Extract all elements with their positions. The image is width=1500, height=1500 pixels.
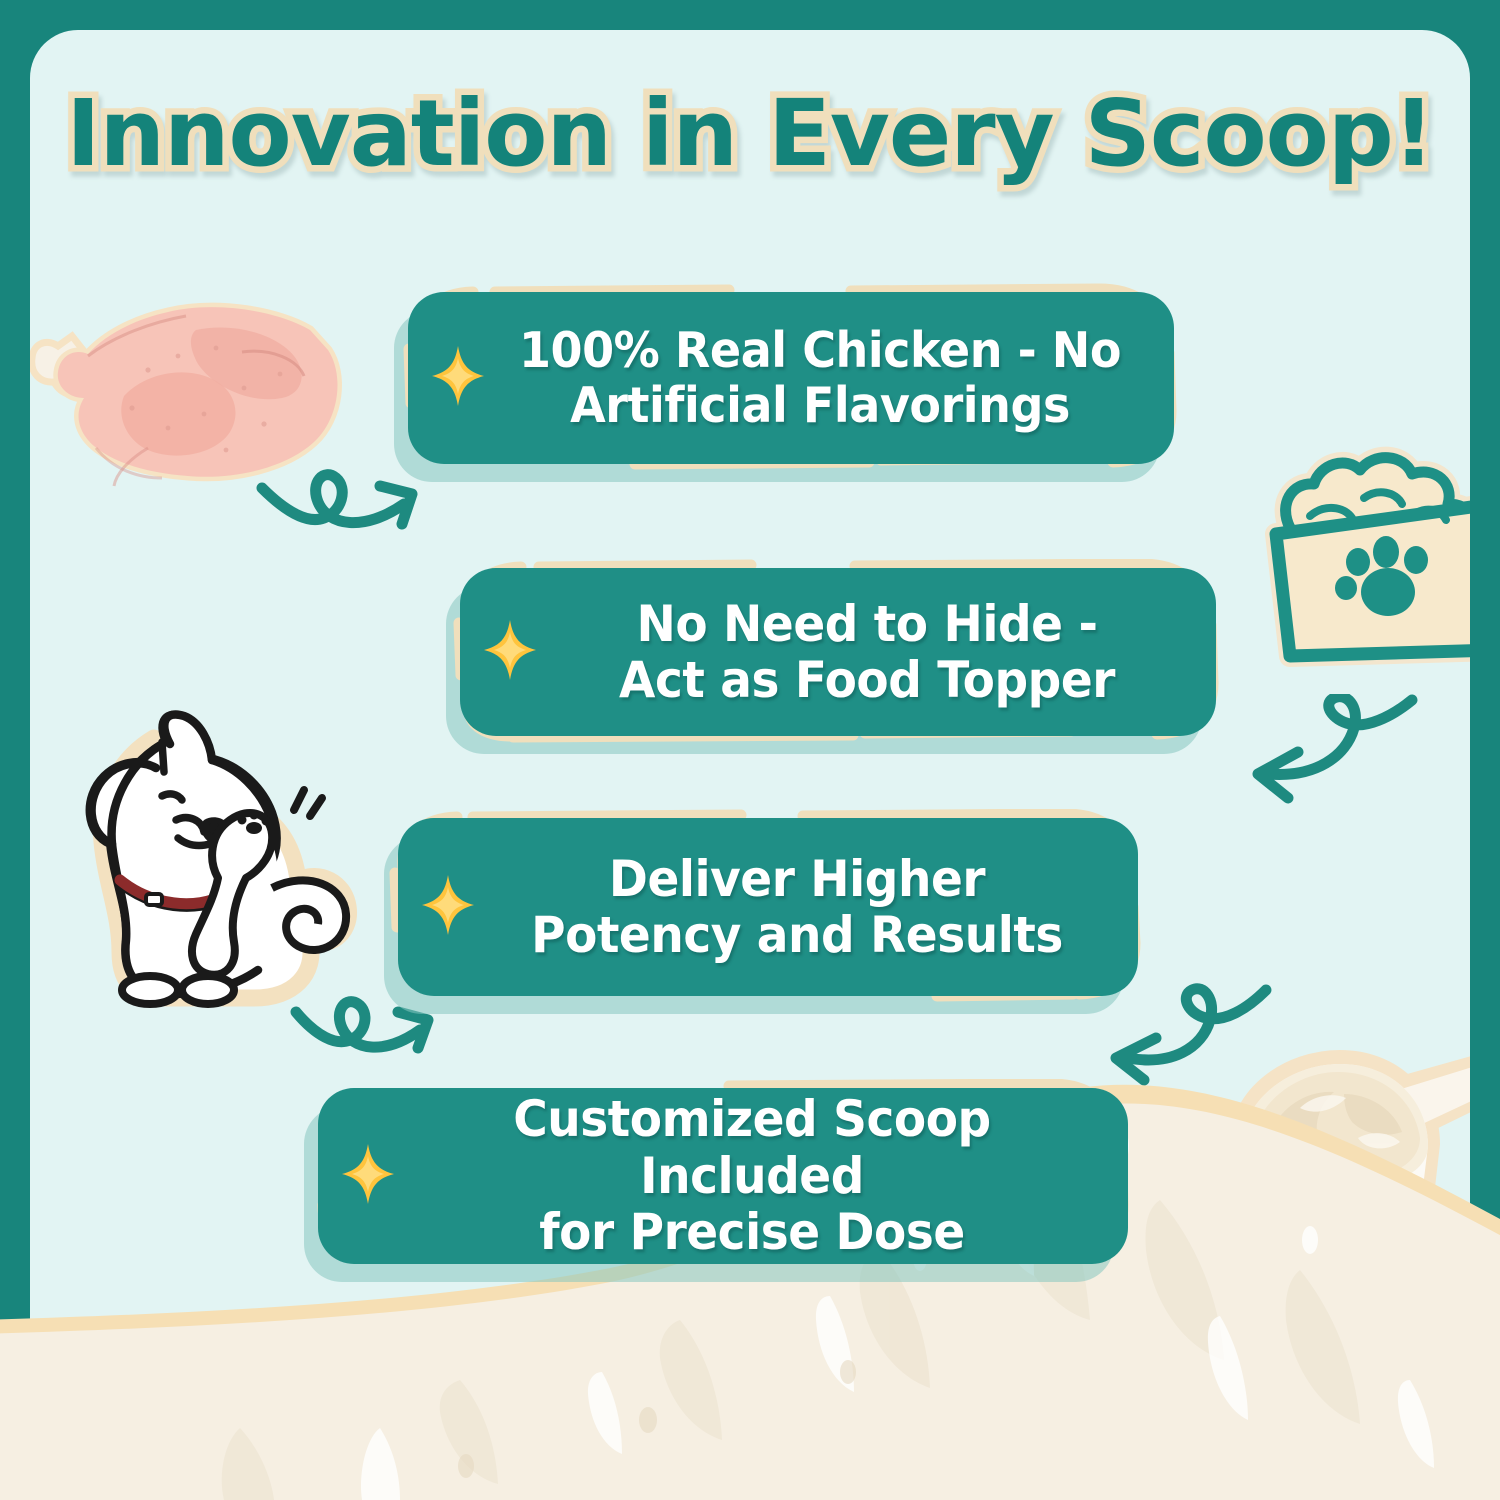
sparkle-icon [430, 344, 486, 413]
sparkle-icon [340, 1142, 396, 1211]
pill-text: 100% Real Chicken - No Artificial Flavor… [512, 323, 1129, 434]
pill-line-1: Customized Scoop Included [513, 1090, 990, 1205]
pill-line-2: for Precise Dose [423, 1204, 1081, 1261]
pill-body: 100% Real Chicken - No Artificial Flavor… [408, 292, 1174, 464]
pill-line-1: No Need to Hide - [636, 595, 1097, 653]
pill-line-2: Artificial Flavorings [512, 378, 1129, 433]
pill-line-1: 100% Real Chicken - No [519, 322, 1121, 379]
pill-body: Deliver Higher Potency and Results [398, 818, 1138, 996]
page-title: Innovation in Every Scoop! [0, 88, 1500, 180]
pill-line-2: Potency and Results [501, 907, 1093, 964]
pet-food-bowl-illustration [1246, 442, 1470, 670]
pill-text: Deliver Higher Potency and Results [501, 851, 1093, 964]
pill-body: No Need to Hide - Act as Food Topper [460, 568, 1216, 736]
pill-line-2: Act as Food Topper [563, 652, 1170, 709]
arrow-scoop-to-pill-icon [1086, 982, 1292, 1094]
sparkle-icon [482, 618, 538, 687]
scratching-dog-illustration [58, 702, 378, 1020]
feature-pill-real-chicken[interactable]: 100% Real Chicken - No Artificial Flavor… [408, 292, 1174, 464]
infographic-canvas: 100% Real Chicken - No Artificial Flavor… [0, 0, 1500, 1500]
sparkle-icon [420, 873, 476, 942]
page-title-text: Innovation in Every Scoop! [66, 88, 1433, 180]
arrow-bowl-to-pill-icon [1226, 694, 1440, 816]
pill-line-1: Deliver Higher [609, 850, 985, 908]
feature-pill-customized-scoop[interactable]: Customized Scoop Included for Precise Do… [318, 1088, 1128, 1264]
feature-pill-higher-potency[interactable]: Deliver Higher Potency and Results [398, 818, 1138, 996]
pill-text: No Need to Hide - Act as Food Topper [563, 596, 1170, 709]
pill-body: Customized Scoop Included for Precise Do… [318, 1088, 1128, 1264]
pill-text: Customized Scoop Included for Precise Do… [423, 1091, 1081, 1261]
feature-pill-food-topper[interactable]: No Need to Hide - Act as Food Topper [460, 568, 1216, 736]
